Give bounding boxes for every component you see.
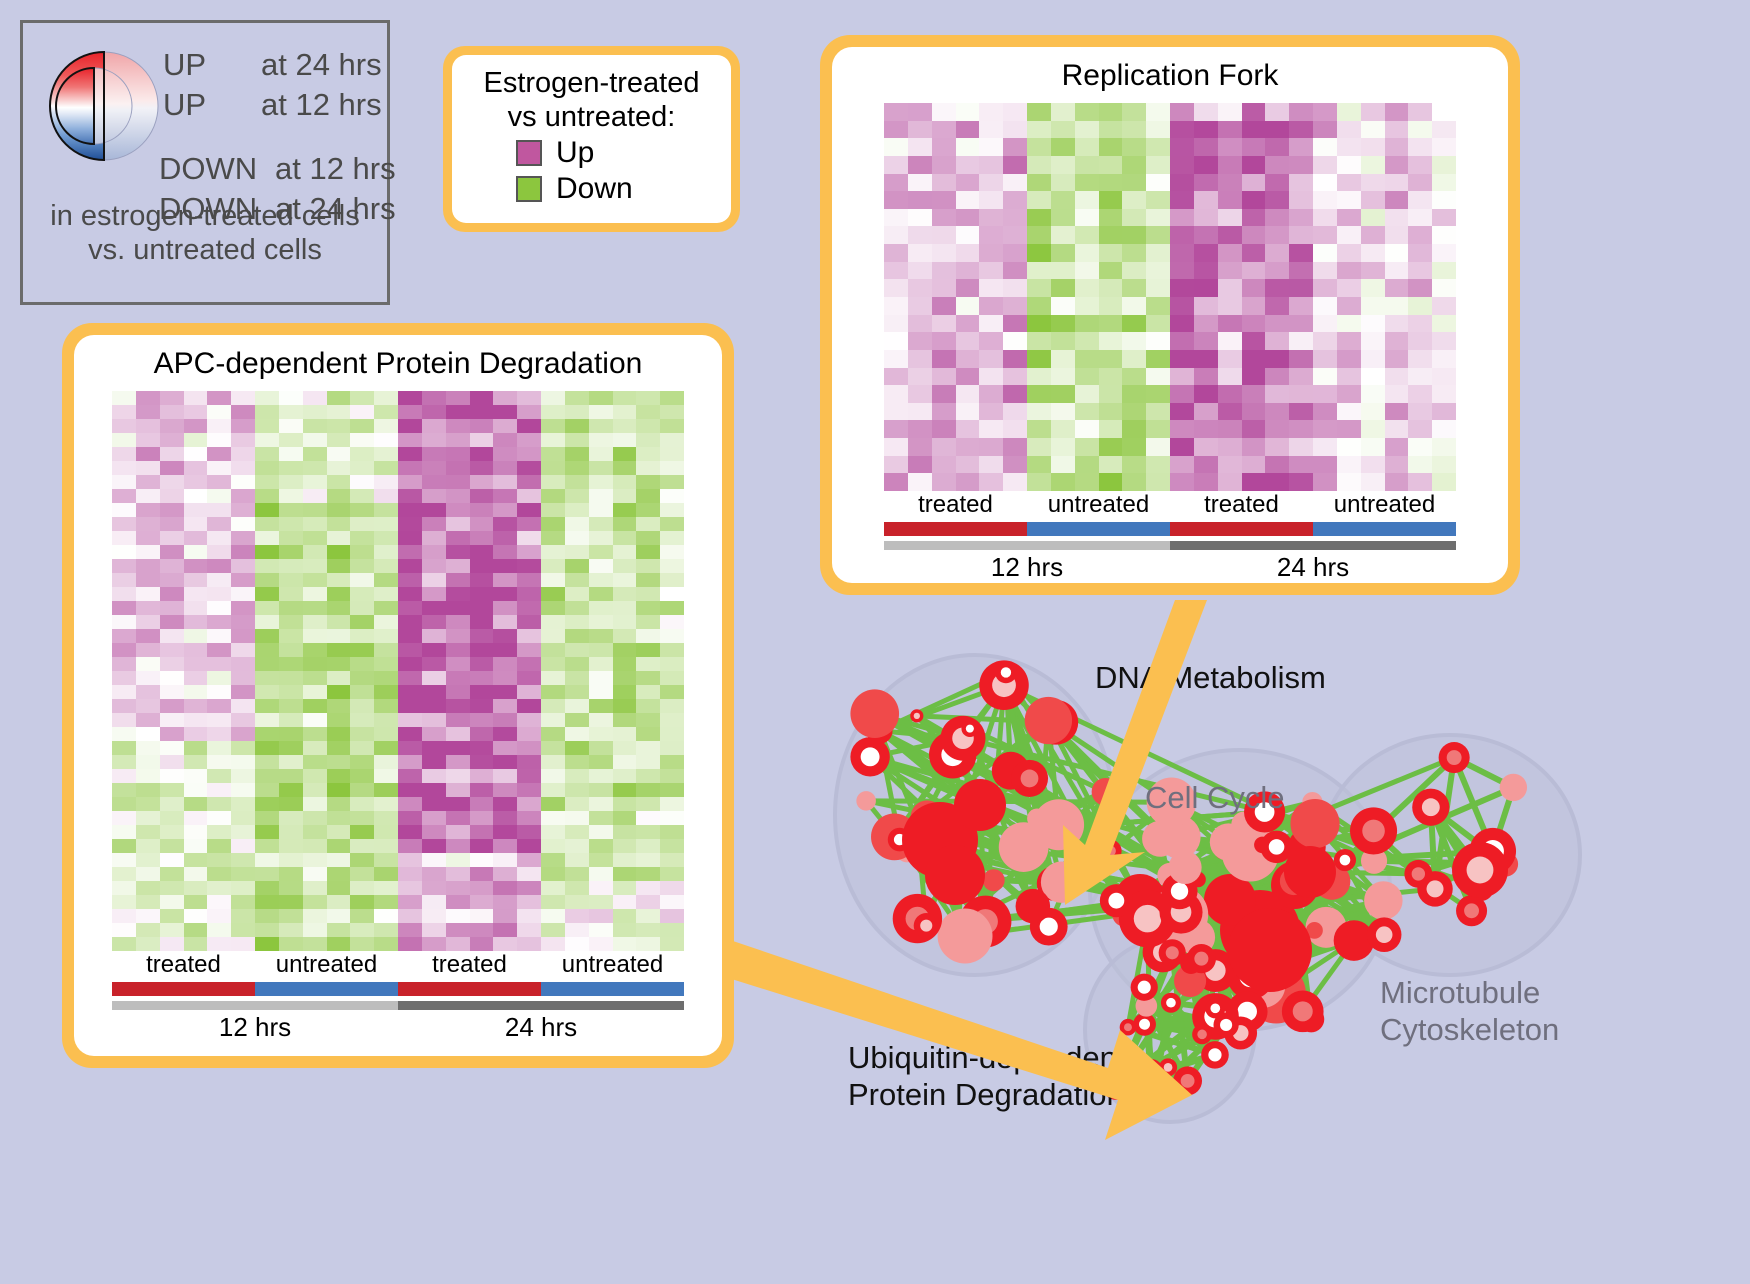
heatmap-cell — [1265, 350, 1289, 368]
heatmap-cell — [1194, 332, 1218, 350]
heatmap-cell — [565, 531, 589, 545]
heatmap-cell — [350, 713, 374, 727]
heatmap-cell — [422, 867, 446, 881]
heatmap-cell — [184, 699, 208, 713]
heatmap-cell — [517, 531, 541, 545]
heatmap-cell — [1361, 279, 1385, 297]
heatmap-cell — [231, 699, 255, 713]
heatmap-cell — [565, 629, 589, 643]
heatmap-cell — [1385, 438, 1409, 456]
heatmap-cell — [956, 156, 980, 174]
heatmap-cell — [327, 713, 351, 727]
heatmap-cell — [956, 368, 980, 386]
heatmap-cell — [1265, 191, 1289, 209]
heatmap-cell — [493, 685, 517, 699]
heatmap-cell — [1313, 420, 1337, 438]
heatmap-cell — [303, 489, 327, 503]
heatmap-cell — [1027, 403, 1051, 421]
heatmap-cell — [1432, 121, 1456, 139]
heatmap-cell — [979, 456, 1003, 474]
network-node[interactable] — [850, 689, 899, 738]
heatmap-cell — [493, 881, 517, 895]
heatmap-cell — [1003, 138, 1027, 156]
heatmap-cell — [932, 226, 956, 244]
heatmap-cell — [1289, 244, 1313, 262]
heatmap-cell — [660, 727, 684, 741]
heatmap-cell — [932, 191, 956, 209]
network-node[interactable] — [925, 845, 985, 905]
legend-time-up-24: at 24 hrs — [261, 47, 382, 83]
heatmap-cell — [136, 545, 160, 559]
heatmap-cell — [1099, 332, 1123, 350]
heatmap-cell — [565, 755, 589, 769]
heatmap-cell — [231, 503, 255, 517]
heatmap-cell — [565, 573, 589, 587]
apc-degradation-card: APC-dependent Protein Degradation treate… — [62, 323, 734, 1068]
heatmap-cell — [184, 713, 208, 727]
heatmap-cell — [589, 937, 613, 951]
heatmap-cell — [565, 909, 589, 923]
heatmap-cell — [398, 909, 422, 923]
heatmap-cell — [1361, 420, 1385, 438]
heatmap-cell — [660, 895, 684, 909]
heatmap-cell — [613, 895, 637, 909]
heatmap-cell — [932, 103, 956, 121]
heatmap-cell — [541, 895, 565, 909]
network-node[interactable] — [1500, 774, 1527, 801]
heatmap-cell — [565, 615, 589, 629]
heatmap-cell — [1146, 121, 1170, 139]
heatmap-cell — [255, 713, 279, 727]
heatmap-cell — [493, 573, 517, 587]
heatmap-cell — [517, 685, 541, 699]
legend-key-down: Down — [516, 172, 721, 206]
heatmap-cell — [136, 937, 160, 951]
heatmap-cell — [279, 755, 303, 769]
heatmap-cell — [207, 545, 231, 559]
heatmap-cell — [255, 909, 279, 923]
network-node[interactable] — [1290, 799, 1339, 848]
heatmap-cell — [613, 867, 637, 881]
heatmap-cell — [1099, 121, 1123, 139]
heatmap-cell — [112, 839, 136, 853]
heatmap-cell — [303, 433, 327, 447]
heatmap-cell — [279, 587, 303, 601]
heatmap-cell — [884, 103, 908, 121]
heatmap-cell — [613, 699, 637, 713]
heatmap-cell — [979, 350, 1003, 368]
heatmap-cell — [884, 332, 908, 350]
heatmap-cell — [884, 403, 908, 421]
heatmap-cell — [136, 629, 160, 643]
pathway-network-diagram: DNA Metabolism Cell Cycle Microtubule Cy… — [790, 600, 1750, 1279]
heatmap-cell — [422, 461, 446, 475]
heatmap-cell — [1194, 191, 1218, 209]
heatmap-cell — [446, 769, 470, 783]
heatmap-cell — [279, 867, 303, 881]
apc-time-labels: 12 hrs 24 hrs — [112, 1012, 684, 1043]
heatmap-cell — [1170, 262, 1194, 280]
heatmap-cell — [231, 839, 255, 853]
heatmap-cell — [613, 405, 637, 419]
heatmap-cell — [1337, 438, 1361, 456]
heatmap-cell — [979, 332, 1003, 350]
heatmap-cell — [589, 615, 613, 629]
heatmap-cell — [1408, 226, 1432, 244]
heatmap-cell — [1313, 403, 1337, 421]
heatmap-cell — [1289, 403, 1313, 421]
heatmap-cell — [1099, 315, 1123, 333]
heatmap-cell — [446, 755, 470, 769]
heatmap-cell — [1146, 209, 1170, 227]
heatmap-cell — [327, 461, 351, 475]
heatmap-cell — [1408, 262, 1432, 280]
heatmap-cell — [279, 895, 303, 909]
heatmap-cell — [517, 559, 541, 573]
apc-time-label-24: 24 hrs — [398, 1012, 684, 1043]
network-node[interactable] — [1016, 889, 1051, 924]
heatmap-cell — [908, 473, 932, 491]
network-node[interactable] — [1364, 881, 1403, 920]
heatmap-cell — [231, 867, 255, 881]
heatmap-cell — [374, 867, 398, 881]
heatmap-cell — [565, 475, 589, 489]
legend-caption-line2: vs. untreated cells — [23, 233, 387, 267]
heatmap-cell — [470, 825, 494, 839]
heatmap-cell — [112, 853, 136, 867]
heatmap-cell — [541, 783, 565, 797]
heatmap-cell — [1099, 174, 1123, 192]
heatmap-cell — [956, 332, 980, 350]
heatmap-cell — [398, 629, 422, 643]
heatmap-cell — [374, 517, 398, 531]
heatmap-cell — [255, 433, 279, 447]
heatmap-cell — [541, 755, 565, 769]
heatmap-cell — [908, 456, 932, 474]
heatmap-cell — [136, 685, 160, 699]
heatmap-cell — [279, 909, 303, 923]
heatmap-cell — [255, 587, 279, 601]
heatmap-cell — [1385, 262, 1409, 280]
heatmap-cell — [636, 923, 660, 937]
apc-bar-treated-12 — [112, 982, 255, 996]
network-node[interactable] — [1027, 808, 1047, 828]
heatmap-cell — [517, 895, 541, 909]
heatmap-cell — [1289, 385, 1313, 403]
network-node[interactable] — [1284, 846, 1336, 898]
apc-bar-time-24 — [398, 1001, 684, 1010]
heatmap-cell — [1122, 385, 1146, 403]
heatmap-cell — [470, 433, 494, 447]
heatmap-cell — [1265, 368, 1289, 386]
heatmap-cell — [398, 699, 422, 713]
heatmap-cell — [932, 438, 956, 456]
heatmap-cell — [255, 531, 279, 545]
network-node-core — [1144, 1066, 1157, 1079]
network-node[interactable] — [1025, 697, 1072, 744]
heatmap-cell — [422, 419, 446, 433]
legend-direction-up-24: UP — [163, 47, 206, 83]
heatmap-cell — [1265, 456, 1289, 474]
heatmap-cell — [589, 391, 613, 405]
heatmap-cell — [136, 881, 160, 895]
legend-key-down-label: Down — [556, 172, 633, 206]
heatmap-cell — [327, 783, 351, 797]
heatmap-cell — [1122, 226, 1146, 244]
heatmap-cell — [1146, 174, 1170, 192]
heatmap-cell — [636, 405, 660, 419]
network-node[interactable] — [954, 779, 1006, 831]
heatmap-cell — [207, 909, 231, 923]
heatmap-cell — [279, 615, 303, 629]
heatmap-cell — [112, 671, 136, 685]
heatmap-cell — [207, 937, 231, 951]
heatmap-cell — [565, 587, 589, 601]
heatmap-cell — [1218, 279, 1242, 297]
heatmap-cell — [184, 741, 208, 755]
heatmap-cell — [613, 643, 637, 657]
heatmap-cell — [136, 391, 160, 405]
heatmap-cell — [303, 895, 327, 909]
heatmap-cell — [303, 881, 327, 895]
estrogen-legend-title: Estrogen-treated vs untreated: — [462, 67, 721, 134]
heatmap-cell — [1194, 121, 1218, 139]
heatmap-cell — [1146, 156, 1170, 174]
heatmap-cell — [327, 587, 351, 601]
heatmap-cell — [1170, 420, 1194, 438]
heatmap-cell — [932, 174, 956, 192]
heatmap-cell — [112, 629, 136, 643]
heatmap-cell — [279, 657, 303, 671]
heatmap-cell — [422, 531, 446, 545]
heatmap-cell — [446, 797, 470, 811]
network-node[interactable] — [1228, 908, 1312, 992]
heatmap-cell — [350, 517, 374, 531]
network-node-core — [1139, 1019, 1150, 1030]
heatmap-cell — [136, 433, 160, 447]
heatmap-cell — [956, 226, 980, 244]
heatmap-cell — [231, 461, 255, 475]
heatmap-cell — [1313, 244, 1337, 262]
heatmap-cell — [1051, 315, 1075, 333]
heatmap-cell — [908, 279, 932, 297]
heatmap-cell — [327, 811, 351, 825]
heatmap-cell — [374, 545, 398, 559]
heatmap-cell — [1432, 350, 1456, 368]
network-node-core — [1108, 893, 1124, 909]
heatmap-cell — [231, 685, 255, 699]
heatmap-cell — [493, 671, 517, 685]
heatmap-cell — [231, 587, 255, 601]
heatmap-cell — [1146, 456, 1170, 474]
heatmap-cell — [160, 447, 184, 461]
heatmap-cell — [136, 727, 160, 741]
heatmap-cell — [636, 545, 660, 559]
time-label-24: 24 hrs — [1170, 552, 1456, 583]
heatmap-cell — [184, 755, 208, 769]
apc-time-bar — [112, 1001, 684, 1010]
heatmap-cell — [207, 391, 231, 405]
heatmap-cell — [1385, 279, 1409, 297]
heatmap-cell — [327, 853, 351, 867]
heatmap-cell — [374, 741, 398, 755]
heatmap-cell — [279, 797, 303, 811]
heatmap-cell — [589, 895, 613, 909]
heatmap-cell — [279, 517, 303, 531]
heatmap-cell — [255, 391, 279, 405]
heatmap-cell — [589, 797, 613, 811]
heatmap-cell — [255, 699, 279, 713]
heatmap-cell — [613, 881, 637, 895]
heatmap-cell — [884, 385, 908, 403]
heatmap-cell — [255, 881, 279, 895]
heatmap-cell — [589, 811, 613, 825]
heatmap-cell — [660, 503, 684, 517]
heatmap-cell — [1218, 420, 1242, 438]
network-node-core — [1105, 845, 1116, 856]
network-node-core — [1181, 1074, 1195, 1088]
heatmap-cell — [303, 937, 327, 951]
heatmap-cell — [613, 909, 637, 923]
heatmap-cell — [279, 489, 303, 503]
heatmap-cell — [1099, 420, 1123, 438]
heatmap-cell — [1313, 226, 1337, 244]
heatmap-cell — [1337, 209, 1361, 227]
heatmap-cell — [1218, 473, 1242, 491]
heatmap-cell — [589, 685, 613, 699]
heatmap-cell — [184, 545, 208, 559]
heatmap-cell — [446, 461, 470, 475]
heatmap-cell — [112, 601, 136, 615]
heatmap-cell — [470, 671, 494, 685]
heatmap-cell — [493, 391, 517, 405]
network-node[interactable] — [938, 909, 993, 964]
heatmap-cell — [517, 783, 541, 797]
heatmap-cell — [160, 797, 184, 811]
heatmap-cell — [660, 447, 684, 461]
heatmap-cell — [398, 797, 422, 811]
heatmap-cell — [112, 685, 136, 699]
heatmap-cell — [1265, 332, 1289, 350]
heatmap-cell — [398, 587, 422, 601]
heatmap-cell — [279, 475, 303, 489]
heatmap-cell — [884, 244, 908, 262]
heatmap-cell — [1337, 226, 1361, 244]
heatmap-cell — [112, 755, 136, 769]
heatmap-cell — [589, 419, 613, 433]
heatmap-cell — [517, 629, 541, 643]
network-node-core — [1269, 839, 1285, 855]
heatmap-cell — [374, 433, 398, 447]
heatmap-cell — [541, 867, 565, 881]
heatmap-cell — [908, 403, 932, 421]
heatmap-cell — [374, 699, 398, 713]
heatmap-cell — [1289, 209, 1313, 227]
heatmap-cell — [255, 797, 279, 811]
heatmap-cell — [541, 419, 565, 433]
heatmap-cell — [422, 811, 446, 825]
heatmap-cell — [1337, 279, 1361, 297]
heatmap-cell — [207, 867, 231, 881]
heatmap-cell — [493, 769, 517, 783]
heatmap-cell — [589, 909, 613, 923]
heatmap-cell — [470, 475, 494, 489]
heatmap-cell — [303, 587, 327, 601]
heatmap-cell — [1099, 350, 1123, 368]
heatmap-cell — [1432, 332, 1456, 350]
heatmap-cell — [1432, 473, 1456, 491]
heatmap-cell — [374, 797, 398, 811]
heatmap-cell — [1122, 350, 1146, 368]
heatmap-cell — [1003, 385, 1027, 403]
heatmap-cell — [1051, 244, 1075, 262]
network-node[interactable] — [856, 791, 876, 811]
heatmap-cell — [565, 657, 589, 671]
bar-treated-12 — [884, 522, 1027, 536]
heatmap-cell — [932, 279, 956, 297]
heatmap-cell — [517, 881, 541, 895]
heatmap-cell — [1075, 438, 1099, 456]
heatmap-cell — [470, 727, 494, 741]
heatmap-cell — [493, 713, 517, 727]
heatmap-cell — [160, 503, 184, 517]
heatmap-cell — [660, 783, 684, 797]
network-node-core — [1171, 882, 1188, 899]
heatmap-cell — [1218, 332, 1242, 350]
heatmap-cell — [350, 867, 374, 881]
heatmap-cell — [446, 615, 470, 629]
heatmap-cell — [1408, 279, 1432, 297]
heatmap-cell — [231, 909, 255, 923]
heatmap-cell — [932, 385, 956, 403]
heatmap-cell — [1146, 226, 1170, 244]
heatmap-cell — [446, 909, 470, 923]
group-label-treated-24: treated — [1170, 491, 1313, 519]
heatmap-cell — [160, 601, 184, 615]
heatmap-cell — [279, 391, 303, 405]
heatmap-cell — [493, 755, 517, 769]
heatmap-cell — [422, 489, 446, 503]
heatmap-cell — [422, 475, 446, 489]
heatmap-cell — [1027, 385, 1051, 403]
heatmap-cell — [1361, 315, 1385, 333]
heatmap-cell — [517, 419, 541, 433]
heatmap-cell — [1313, 103, 1337, 121]
heatmap-cell — [112, 783, 136, 797]
network-node[interactable] — [1092, 778, 1120, 806]
heatmap-cell — [1337, 156, 1361, 174]
network-node-core — [1134, 905, 1162, 933]
heatmap-cell — [493, 811, 517, 825]
network-node[interactable] — [983, 869, 1005, 891]
heatmap-cell — [1289, 174, 1313, 192]
heatmap-cell — [1075, 244, 1099, 262]
legend-direction-down-12: DOWN — [159, 151, 257, 187]
heatmap-cell — [1242, 456, 1266, 474]
network-node-core — [1447, 750, 1462, 765]
network-node[interactable] — [999, 822, 1049, 872]
heatmap-cell — [446, 531, 470, 545]
heatmap-cell — [493, 447, 517, 461]
heatmap-cell — [207, 853, 231, 867]
heatmap-cell — [327, 475, 351, 489]
heatmap-cell — [1385, 121, 1409, 139]
heatmap-cell — [565, 517, 589, 531]
heatmap-cell — [589, 783, 613, 797]
heatmap-cell — [517, 657, 541, 671]
heatmap-cell — [541, 573, 565, 587]
heatmap-cell — [1075, 191, 1099, 209]
